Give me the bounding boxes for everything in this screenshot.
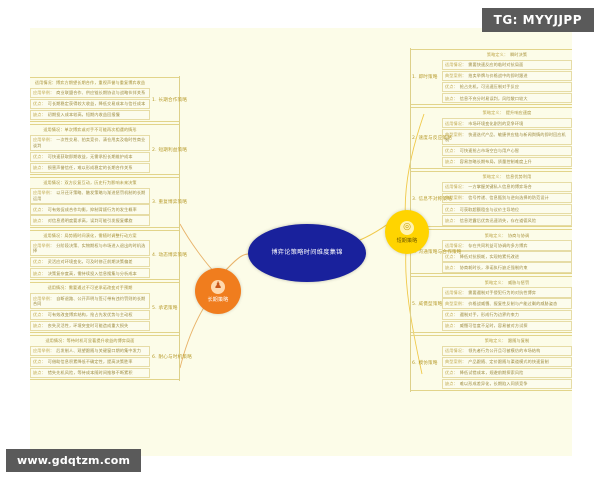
leaf-text: 丧失灵活性，环境突变时可能造成重大损失 bbox=[48, 323, 129, 328]
leaf-key: 策略定义： bbox=[483, 174, 504, 179]
leaf-node[interactable]: 优点：灵活应对环境变化，可及时修正前期决策偏差 bbox=[30, 257, 150, 267]
leaf-text: 初期投入成本较高，短期内收益回报慢 bbox=[48, 112, 120, 117]
leaf-text: 后发制人、观望跟随与关键窗口期的集中发力 bbox=[56, 348, 141, 353]
leaf-text: 商业联盟合作、供应链长期协议与战略伙伴关系 bbox=[56, 90, 145, 95]
leaf-node[interactable]: 应用举例：自断退路、公开声明与签订带有违约罚则的长期合同 bbox=[30, 293, 150, 309]
branch: 2. 短期利益策略适用情况：单次博弈或对手不可能再次相遇的情形应用举例：一次性交… bbox=[30, 123, 180, 176]
leaf-text: 决策复杂度高，需持续投入信息搜集与分析成本 bbox=[48, 271, 137, 276]
leaf-text: 可借助信息积累降低不确定性，提高决策胜率 bbox=[48, 359, 133, 364]
telegram-badge: TG: MYYJJPP bbox=[482, 8, 594, 32]
leaf-text: 适用情况：局势随时间演化，需随时调整行动方案 bbox=[43, 233, 136, 238]
leaf-text: 对信息透明度要求高，误判可能引发报复螺旋 bbox=[48, 218, 133, 223]
leaf-key: 应用举例： bbox=[33, 137, 54, 142]
leaf-node[interactable]: 优点：抢占先机，可迅速压制对手反应 bbox=[442, 82, 572, 92]
leaf-text: 可长期稳定获得较大收益，降低交易成本与信任成本 bbox=[48, 101, 146, 106]
leaf-node[interactable]: 典型案例：快速迭代产品、敏捷供应链与新闻舆情的即时回应机制 bbox=[442, 129, 572, 145]
leaf-key: 缺点： bbox=[445, 381, 458, 386]
leaf-text: 适用情况：双方反复互动，历史行为影响未来决策 bbox=[43, 180, 136, 185]
branch-label[interactable]: 1. 即时策略 bbox=[412, 74, 438, 80]
leaf-text: 威胁与惩罚 bbox=[508, 280, 529, 285]
leaf-key: 典型案例： bbox=[445, 73, 466, 78]
branch-spine bbox=[410, 275, 411, 333]
leaf-text: 一方掌握关键私人信息的博弈场合 bbox=[468, 184, 532, 189]
leaf-key: 缺点： bbox=[33, 271, 46, 276]
leaf-key: 缺点： bbox=[33, 323, 46, 328]
leaf-text: 抢占先机，可迅速压制对手反应 bbox=[460, 84, 519, 89]
leaf-text: 领先者行为公开且可被模仿的市场结构 bbox=[468, 348, 540, 353]
leaf-node[interactable]: 缺点：损害声誉信任，难以形成稳定的长期合作关系 bbox=[30, 163, 150, 173]
leaf-text: 降低对抗损耗，实现帕累托改进 bbox=[460, 254, 519, 259]
branch-label[interactable]: 1. 长期合作策略 bbox=[152, 97, 187, 103]
leaf-text: 损害声誉信任，难以形成稳定的长期合作关系 bbox=[48, 165, 133, 170]
branch: 5. 威慑型策略策略定义：威胁与惩罚适用情况：需要遏制对手侵犯行为的对抗性博弈典… bbox=[410, 275, 572, 333]
leaf-node[interactable]: 典型案例：价格战威慑、报复性反制与产能过剩的威胁姿态 bbox=[442, 298, 572, 308]
leaf-text: 错失先机风险，等待成本随时间推移不断累积 bbox=[48, 370, 133, 375]
leaf-text: 提升响应速度 bbox=[506, 110, 531, 115]
branch-label[interactable]: 6. 模仿策略 bbox=[412, 360, 438, 366]
branch: 4. 沟通策略与合作策略策略定义：协商与协调适用情况：存在共同利益可协调的多方博… bbox=[410, 228, 572, 275]
leaf-node[interactable]: 策略定义：提升响应速度 bbox=[442, 109, 572, 117]
branch: 5. 承诺策略适用情况：需要通过不可逆承诺改变对手预期应用举例：自断退路、公开声… bbox=[30, 281, 180, 334]
topic-node-short-term-label: 短期策略 bbox=[397, 237, 418, 244]
leaf-key: 优点： bbox=[445, 312, 458, 317]
leaf-node[interactable]: 缺点：错失先机风险，等待成本随时间推移不断累积 bbox=[30, 368, 150, 378]
branch: 3. 信息不对称策略策略定义：信息优势利用适用情况：一方掌握关键私人信息的博弈场… bbox=[410, 170, 572, 228]
leaf-key: 优点： bbox=[33, 154, 46, 159]
leaf-key: 策略定义： bbox=[485, 233, 506, 238]
center-node[interactable]: 博弈论策略时间维度集锦 bbox=[248, 224, 366, 282]
leaf-node[interactable]: 典型案例：产品跟随、定价跟随与渠道模式的快速复制 bbox=[442, 357, 572, 367]
branch-label[interactable]: 3. 信息不对称策略 bbox=[412, 196, 452, 202]
leaf-text: 容易忽略长期布局，质量控制难度上升 bbox=[460, 159, 532, 164]
leaf-node[interactable]: 缺点：信息不充分时易误判，风险敞口较大 bbox=[442, 93, 572, 103]
leaf-key: 缺点： bbox=[33, 370, 46, 375]
leaf-node[interactable]: 典型案例：拍卖举牌与价格战中的即时跟进 bbox=[442, 71, 572, 81]
leaf-text: 威慑可信度不足时，容易被对方试探 bbox=[460, 323, 528, 328]
leaf-key: 适用情况： bbox=[445, 121, 466, 126]
leaf-key: 应用举例： bbox=[33, 348, 54, 353]
branch: 6. 模仿策略策略定义：跟随与复制适用情况：领先者行为公开且可被模仿的市场结构典… bbox=[410, 334, 572, 392]
branch-label[interactable]: 3. 重复博弈策略 bbox=[152, 199, 187, 205]
leaf-key: 缺点： bbox=[445, 218, 458, 223]
leaf-text: 瞬时决策 bbox=[510, 52, 527, 57]
right-branch-pane: 1. 即时策略策略定义：瞬时决策适用情况：需要快速反应的临时对抗局面典型案例：拍… bbox=[410, 48, 572, 392]
leaf-node[interactable]: 适用情况：等待时机可显著提升收益的博弈局面 bbox=[30, 337, 150, 345]
leaf-key: 策略定义： bbox=[483, 110, 504, 115]
leaf-key: 优点： bbox=[445, 370, 458, 375]
leaf-text: 适用情况：需要通过不可逆承诺改变对手预期 bbox=[48, 285, 133, 290]
left-branch-pane: 1. 长期合作策略适用情况：博弈方期望长期合作，重视声誉与重复博弈收益应用举例：… bbox=[30, 76, 180, 381]
leaf-text: 难以形成差异化，长期陷入同质竞争 bbox=[460, 381, 528, 386]
leaf-text: 适用情况：单次博弈或对手不可能再次相遇的情形 bbox=[43, 127, 136, 132]
leaf-text: 价格战威慑、报复性反制与产能过剩的威胁姿态 bbox=[468, 301, 557, 306]
leaf-node[interactable]: 缺点：难以形成差异化，长期陷入同质竞争 bbox=[442, 379, 572, 389]
leaf-node[interactable]: 策略定义：威胁与惩罚 bbox=[442, 278, 572, 286]
leaf-text: 可有效改变博弈结构，抢占先发优势与主动权 bbox=[48, 312, 133, 317]
leaf-text: 降低试错成本，规避前期探索风险 bbox=[460, 370, 524, 375]
leaf-key: 典型案例： bbox=[445, 301, 466, 306]
leaf-node[interactable]: 优点：遏制对手，形成行为边界约束力 bbox=[442, 310, 572, 320]
branch-label[interactable]: 4. 动态博弈策略 bbox=[152, 252, 187, 258]
leaf-node[interactable]: 策略定义：信息优势利用 bbox=[442, 173, 572, 181]
leaf-text: 存在共同利益可协调的多方博弈 bbox=[468, 243, 527, 248]
leaf-key: 优点： bbox=[33, 312, 46, 317]
leaf-node[interactable]: 缺点：决策复杂度高，需持续投入信息搜集与分析成本 bbox=[30, 268, 150, 278]
leaf-text: 信息不充分时易误判，风险敞口较大 bbox=[460, 96, 528, 101]
branch-spine bbox=[410, 106, 411, 170]
leaf-text: 适用情况：等待时机可显著提升收益的博弈局面 bbox=[45, 338, 134, 343]
branch-spine bbox=[410, 48, 411, 106]
leaf-node[interactable]: 适用情况：市场环境变化剧烈的竞争环境 bbox=[442, 118, 572, 128]
leaf-node[interactable]: 缺点：容易忽略长期布局，质量控制难度上升 bbox=[442, 157, 572, 167]
branch-label[interactable]: 2. 短期利益策略 bbox=[152, 147, 187, 153]
center-node-title: 博弈论策略时间维度集锦 bbox=[268, 248, 346, 258]
leaf-node[interactable]: 缺点：信息泄露后优势迅速消失，存在道德风险 bbox=[442, 215, 572, 225]
leaf-key: 缺点： bbox=[445, 265, 458, 270]
leaf-node[interactable]: 适用情况：双方反复互动，历史行为影响未来决策 bbox=[30, 179, 150, 187]
leaf-key: 优点： bbox=[445, 148, 458, 153]
leaf-node[interactable]: 策略定义：瞬时决策 bbox=[442, 51, 572, 59]
branch: 1. 长期合作策略适用情况：博弈方期望长期合作，重视声誉与重复博弈收益应用举例：… bbox=[30, 76, 180, 123]
leaf-key: 优点： bbox=[33, 207, 46, 212]
leaf-node[interactable]: 应用举例：后发制人、观望跟随与关键窗口期的集中发力 bbox=[30, 346, 150, 356]
leaf-node[interactable]: 应用举例：一次性交易、拍卖竞价、清仓甩卖及临时性商业谈判 bbox=[30, 135, 150, 151]
branch-spine bbox=[410, 334, 411, 392]
leaf-node[interactable]: 优点：可有效促成合作均衡，抑制背叛行为的发生概率 bbox=[30, 204, 150, 214]
branch-label[interactable]: 5. 威慑型策略 bbox=[412, 301, 442, 307]
leaf-key: 优点： bbox=[445, 84, 458, 89]
leaf-key: 适用情况： bbox=[445, 290, 466, 295]
leaf-text: 跟随与复制 bbox=[508, 338, 529, 343]
leaf-node[interactable]: 优点：可借助信息积累降低不确定性，提高决策胜率 bbox=[30, 357, 150, 367]
leaf-node[interactable]: 适用情况：需要遏制对手侵犯行为的对抗性博弈 bbox=[442, 287, 572, 297]
leaf-text: 遏制对手，形成行为边界约束力 bbox=[460, 312, 519, 317]
leaf-key: 适用情况： bbox=[445, 243, 466, 248]
leaf-node[interactable]: 策略定义：跟随与复制 bbox=[442, 337, 572, 345]
leaf-node[interactable]: 适用情况：领先者行为公开且可被模仿的市场结构 bbox=[442, 346, 572, 356]
leaf-key: 缺点： bbox=[445, 323, 458, 328]
leaf-key: 适用情况： bbox=[445, 348, 466, 353]
leaf-node[interactable]: 应用举例：分阶段决策、实物期权与市场进入退出的时机选择 bbox=[30, 240, 150, 256]
leaf-key: 应用举例： bbox=[33, 190, 54, 195]
leaf-node[interactable]: 策略定义：协商与协调 bbox=[442, 231, 572, 239]
leaf-key: 适用情况： bbox=[445, 62, 466, 67]
leaf-key: 缺点： bbox=[33, 218, 46, 223]
leaf-node[interactable]: 缺点：威慑可信度不足时，容易被对方试探 bbox=[442, 321, 572, 331]
leaf-text: 需要快速反应的临时对抗局面 bbox=[468, 62, 523, 67]
leaf-key: 优点： bbox=[33, 259, 46, 264]
target-icon: ◎ bbox=[400, 221, 414, 235]
branch-label[interactable]: 5. 承诺策略 bbox=[152, 305, 178, 311]
leaf-node[interactable]: 优点：可长期稳定获得较大收益，降低交易成本与信任成本 bbox=[30, 99, 150, 109]
leaf-node[interactable]: 优点：可有效改变博弈结构，抢占先发优势与主动权 bbox=[30, 310, 150, 320]
leaf-text: 协商与协调 bbox=[508, 233, 529, 238]
leaf-key: 优点： bbox=[445, 207, 458, 212]
leaf-node[interactable]: 缺点：对信息透明度要求高，误判可能引发报复螺旋 bbox=[30, 215, 150, 225]
leaf-key: 适用情况： bbox=[445, 184, 466, 189]
leaf-node[interactable]: 应用举例：商业联盟合作、供应链长期协议与战略伙伴关系 bbox=[30, 88, 150, 98]
leaf-text: 可获取超额租金与议价主导地位 bbox=[460, 207, 519, 212]
leaf-node[interactable]: 适用情况：需要快速反应的临时对抗局面 bbox=[442, 60, 572, 70]
leaf-node[interactable]: 适用情况：一方掌握关键私人信息的博弈场合 bbox=[442, 182, 572, 192]
leaf-node[interactable]: 适用情况：单次博弈或对手不可能再次相遇的情形 bbox=[30, 126, 150, 134]
branch-label[interactable]: 2. 速度与反应策略 bbox=[412, 135, 452, 141]
leaf-text: 可有效促成合作均衡，抑制背叛行为的发生概率 bbox=[48, 207, 137, 212]
branch: 1. 即时策略策略定义：瞬时决策适用情况：需要快速反应的临时对抗局面典型案例：拍… bbox=[410, 48, 572, 106]
leaf-text: 拍卖举牌与价格战中的即时跟进 bbox=[468, 73, 527, 78]
leaf-node[interactable]: 优点：可快速抢占市场空白与用户心智 bbox=[442, 146, 572, 156]
leaf-node[interactable]: 优点：可获取超额租金与议价主导地位 bbox=[442, 204, 572, 214]
leaf-node[interactable]: 适用情况：博弈方期望长期合作，重视声誉与重复博弈收益 bbox=[30, 79, 150, 87]
branch: 2. 速度与反应策略策略定义：提升响应速度适用情况：市场环境变化剧烈的竞争环境典… bbox=[410, 106, 572, 170]
leaf-text: 协商耗时长，承诺执行缺乏强制约束 bbox=[460, 265, 528, 270]
leaf-node[interactable]: 适用情况：需要通过不可逆承诺改变对手预期 bbox=[30, 284, 150, 292]
leaf-node[interactable]: 典型案例：信号传递、信息甄别与逆向选择的防范设计 bbox=[442, 193, 572, 203]
leaf-text: 可快速获取即期收益，无需承担长期维护成本 bbox=[48, 154, 133, 159]
trophy-icon: ♟ bbox=[211, 280, 225, 294]
branch: 6. 耐心与时机策略适用情况：等待时机可显著提升收益的博弈局面应用举例：后发制人… bbox=[30, 334, 180, 381]
leaf-key: 应用举例： bbox=[33, 296, 54, 301]
leaf-key: 优点： bbox=[33, 101, 46, 106]
leaf-node[interactable]: 应用举例：以牙还牙策略、触发策略与渐进惩罚机制的长期运用 bbox=[30, 188, 150, 204]
leaf-text: 信息泄露后优势迅速消失，存在道德风险 bbox=[460, 218, 536, 223]
leaf-key: 缺点： bbox=[445, 96, 458, 101]
topic-node-long-term[interactable]: ♟ 长期策略 bbox=[195, 268, 241, 314]
leaf-text: 灵活应对环境变化，可及时修正前期决策偏差 bbox=[48, 259, 133, 264]
leaf-key: 缺点： bbox=[33, 165, 46, 170]
topic-node-long-term-label: 长期策略 bbox=[208, 296, 229, 303]
leaf-node[interactable]: 缺点：丧失灵活性，环境突变时可能造成重大损失 bbox=[30, 321, 150, 331]
branch-spine bbox=[179, 281, 180, 334]
mindmap-canvas: 博弈论策略时间维度集锦 ♟ 长期策略 ◎ 短期策略 1. 长期合作策略适用情况：… bbox=[30, 28, 572, 456]
leaf-node[interactable]: 优点：降低试错成本，规避前期探索风险 bbox=[442, 368, 572, 378]
leaf-text: 产品跟随、定价跟随与渠道模式的快速复制 bbox=[468, 359, 549, 364]
leaf-node[interactable]: 缺点：初期投入成本较高，短期内收益回报慢 bbox=[30, 110, 150, 120]
leaf-key: 策略定义： bbox=[485, 338, 506, 343]
leaf-key: 优点： bbox=[33, 359, 46, 364]
leaf-text: 市场环境变化剧烈的竞争环境 bbox=[468, 121, 523, 126]
leaf-text: 需要遏制对手侵犯行为的对抗性博弈 bbox=[468, 290, 536, 295]
leaf-key: 应用举例： bbox=[33, 90, 54, 95]
leaf-text: 适用情况：博弈方期望长期合作，重视声誉与重复博弈收益 bbox=[35, 80, 145, 85]
branch-label[interactable]: 6. 耐心与时机策略 bbox=[152, 354, 192, 360]
leaf-key: 缺点： bbox=[33, 112, 46, 117]
leaf-node[interactable]: 优点：可快速获取即期收益，无需承担长期维护成本 bbox=[30, 152, 150, 162]
leaf-key: 缺点： bbox=[445, 159, 458, 164]
leaf-node[interactable]: 适用情况：局势随时间演化，需随时调整行动方案 bbox=[30, 231, 150, 239]
leaf-key: 策略定义： bbox=[485, 280, 506, 285]
leaf-text: 信号传递、信息甄别与逆向选择的防范设计 bbox=[468, 195, 549, 200]
branch: 3. 重复博弈策略适用情况：双方反复互动，历史行为影响未来决策应用举例：以牙还牙… bbox=[30, 176, 180, 229]
leaf-key: 典型案例： bbox=[445, 359, 466, 364]
site-watermark: www.gdqtzm.com bbox=[6, 449, 141, 472]
leaf-text: 可快速抢占市场空白与用户心智 bbox=[460, 148, 519, 153]
leaf-node[interactable]: 缺点：协商耗时长，承诺执行缺乏强制约束 bbox=[442, 262, 572, 272]
topic-node-short-term[interactable]: ◎ 短期策略 bbox=[385, 210, 429, 254]
leaf-text: 信息优势利用 bbox=[506, 174, 531, 179]
leaf-key: 策略定义： bbox=[487, 52, 508, 57]
branch: 4. 动态博弈策略适用情况：局势随时间演化，需随时调整行动方案应用举例：分阶段决… bbox=[30, 229, 180, 282]
